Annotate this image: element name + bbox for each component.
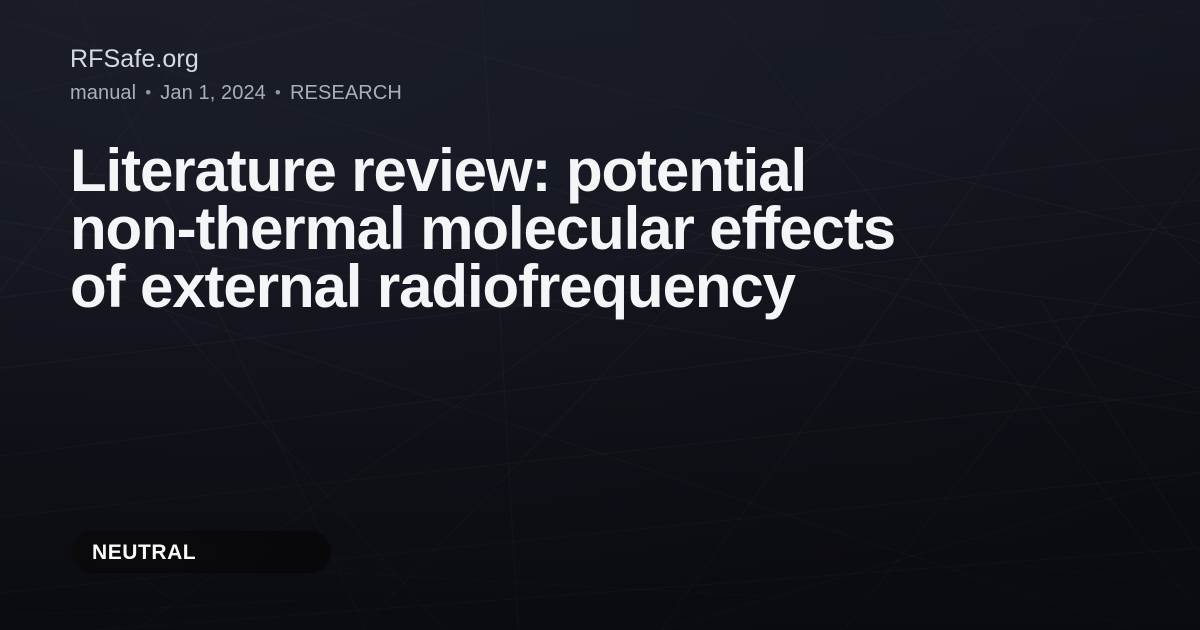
card-content: RFSafe.org manual • Jan 1, 2024 • RESEAR… bbox=[0, 0, 1200, 630]
page-title: Literature review: potential non-thermal… bbox=[70, 142, 1120, 316]
meta-separator-1: • bbox=[145, 80, 151, 105]
meta-date: Jan 1, 2024 bbox=[160, 81, 266, 106]
status-badge-label: NEUTRAL bbox=[92, 542, 196, 563]
meta-separator-2: • bbox=[275, 80, 281, 105]
meta-source: manual bbox=[70, 81, 136, 106]
og-preview-card: RFSafe.org manual • Jan 1, 2024 • RESEAR… bbox=[0, 0, 1200, 630]
meta-line: manual • Jan 1, 2024 • RESEARCH bbox=[70, 81, 1130, 106]
title-line-1: Literature review: potential bbox=[70, 142, 1120, 200]
status-badge: NEUTRAL bbox=[70, 530, 332, 574]
site-name: RFSafe.org bbox=[70, 44, 1130, 74]
badge-row: NEUTRAL bbox=[70, 530, 1130, 574]
title-line-3: of external radiofrequency bbox=[70, 258, 1120, 316]
meta-category: RESEARCH bbox=[290, 81, 402, 106]
title-line-2: non-thermal molecular effects bbox=[70, 200, 1120, 258]
